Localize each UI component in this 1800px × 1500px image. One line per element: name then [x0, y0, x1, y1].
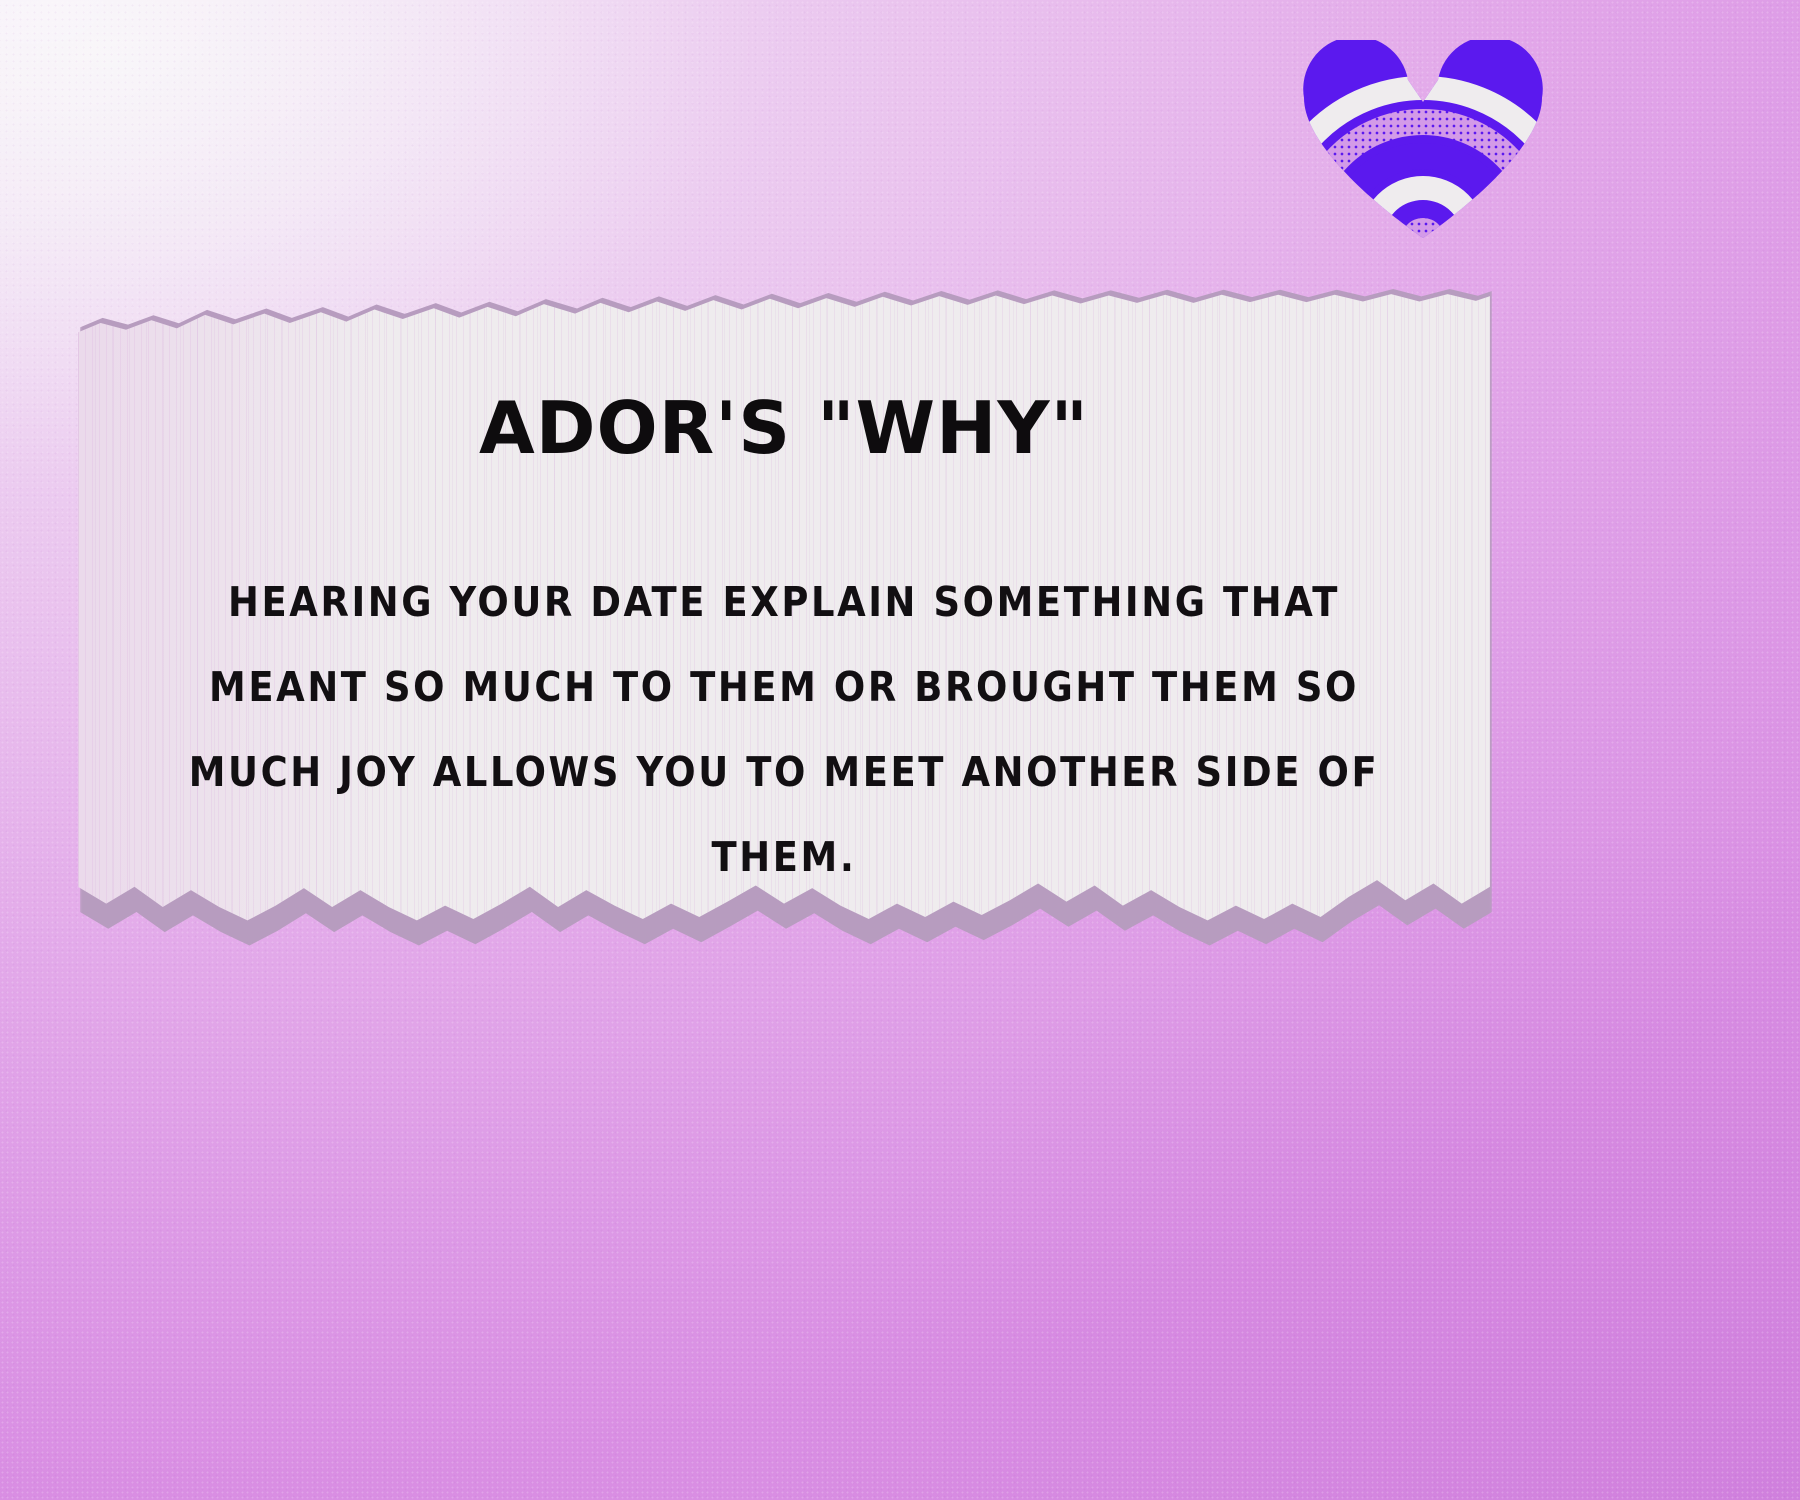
card-content: ADOR'S "WHY" HEARING YOUR DATE EXPLAIN S… — [78, 282, 1490, 954]
torn-paper-card: ADOR'S "WHY" HEARING YOUR DATE EXPLAIN S… — [78, 282, 1490, 954]
brand-logo — [1298, 40, 1548, 240]
quote-line: MEANT SO MUCH TO THEM OR BROUGHT THEM SO — [166, 645, 1402, 730]
quote-line: MUCH JOY ALLOWS YOU TO MEET ANOTHER SIDE… — [166, 730, 1402, 815]
page-title: ADOR'S "WHY" — [148, 392, 1420, 464]
quote-line: HEARING YOUR DATE EXPLAIN SOMETHING THAT — [166, 560, 1402, 645]
heart-wifi-icon — [1298, 40, 1548, 240]
quote-body: HEARING YOUR DATE EXPLAIN SOMETHING THAT… — [148, 560, 1420, 900]
quote-line: THEM. — [166, 815, 1402, 900]
